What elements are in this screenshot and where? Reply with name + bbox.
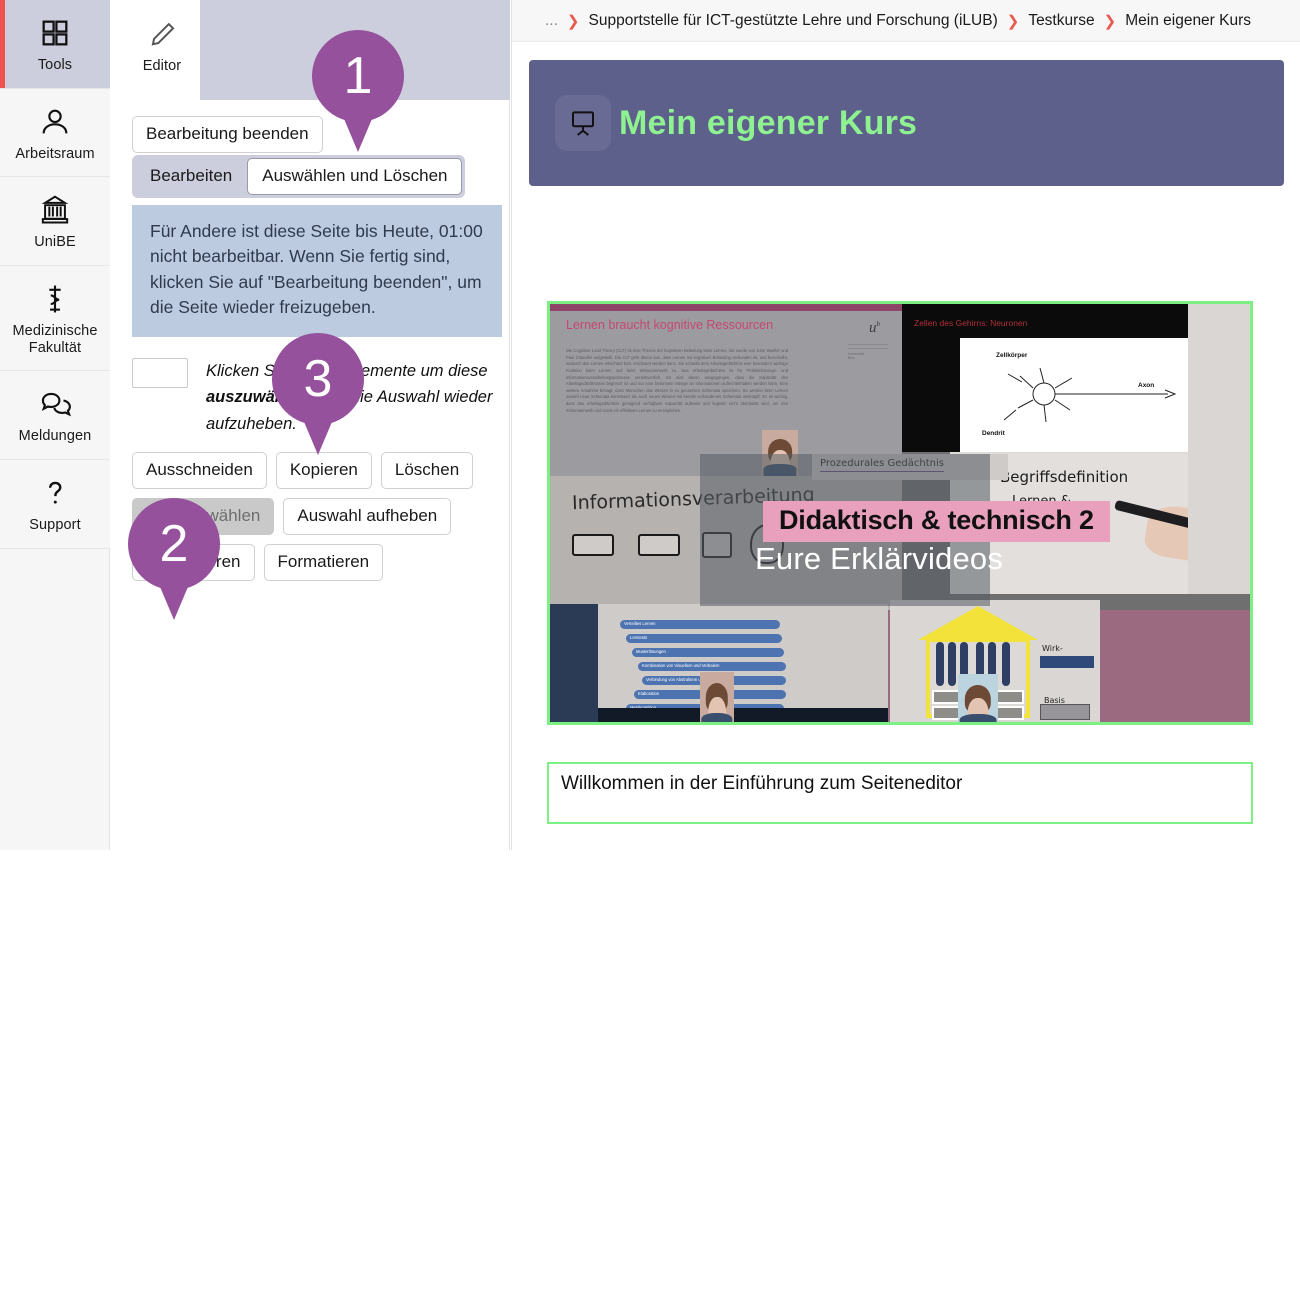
media-element-selected[interactable]: Lernen braucht kognitive Ressourcen Die … [547, 301, 1253, 725]
grid-icon [38, 16, 72, 50]
chevron-right-icon: ❯ [1007, 12, 1020, 30]
sidebar-item-label: Arbeitsraum [15, 146, 94, 163]
tab-bearbeiten[interactable]: Bearbeiten [135, 158, 247, 195]
editing-lock-notice: Für Andere ist diese Seite bis Heute, 01… [132, 205, 502, 337]
text-element-selected[interactable]: Willkommen in der Einführung zum Seitene… [547, 762, 1253, 824]
collage-tile-slide: Lernen braucht kognitive Ressourcen Die … [550, 304, 902, 476]
board-text: Begriffsdefinition [1000, 468, 1128, 486]
neuron-caption: Zellen des Gehirns: Neuronen [914, 318, 1027, 328]
format-button[interactable]: Formatieren [264, 544, 384, 581]
unibe-logo: ub [869, 320, 880, 337]
breadcrumb-item-ilub[interactable]: Supportstelle für ICT-gestützte Lehre un… [589, 12, 998, 30]
editor-panel: Editor Bearbeitung beenden ••• Bearbeite… [110, 0, 510, 850]
bar-label: Lerntests [630, 635, 647, 640]
sidebar-item-label: Tools [38, 57, 72, 74]
editor-mode-tabs: Bearbeiten Auswählen und Löschen [132, 155, 465, 198]
person-icon [38, 105, 72, 139]
video-title-primary: Didaktisch & technisch 2 [763, 501, 1110, 542]
bar-label: Musterlösungen [636, 649, 666, 654]
deselect-button[interactable]: Auswahl aufheben [283, 498, 451, 535]
question-mark-icon [38, 476, 72, 510]
instruction-text: Klicken Sie auf die Elemente um diese au… [206, 358, 504, 437]
breadcrumb-item-testkurse[interactable]: Testkurse [1028, 12, 1094, 30]
presentation-screen-icon [555, 95, 611, 151]
instruction-part1: Klicken Sie auf die Elemente um diese [206, 362, 488, 380]
slide-title: Lernen braucht kognitive Ressourcen [566, 318, 773, 332]
action-row-3: Deaktivieren Formatieren [132, 544, 504, 581]
end-editing-button[interactable]: Bearbeitung beenden [132, 116, 323, 153]
chevron-right-icon: ❯ [1104, 12, 1117, 30]
asclepius-icon [38, 282, 72, 316]
sidebar-item-label: Medizinische Fakultät [4, 323, 106, 356]
webcam-thumbnail [958, 674, 998, 725]
tab-editor[interactable]: Editor [124, 18, 200, 75]
sidebar-item-arbeitsraum[interactable]: Arbeitsraum [0, 89, 110, 178]
sidebar-item-label: Meldungen [19, 428, 92, 445]
slide-body-text: Die Cognitive Load Theory (CLT) ist eine… [566, 348, 788, 414]
logo-lines: UniversitätBern [848, 344, 888, 360]
sidebar-item-unibe[interactable]: UniBE [0, 177, 110, 266]
collage-tile-board-right [1188, 304, 1253, 594]
chevron-right-icon: ❯ [567, 12, 580, 30]
sidebar-item-meldungen[interactable]: Meldungen [0, 371, 110, 460]
delete-button[interactable]: Löschen [381, 452, 473, 489]
breadcrumb-ellipsis[interactable]: ... [545, 12, 558, 30]
element-action-buttons: Ausschneiden Kopieren Löschen Alle auswä… [132, 452, 504, 590]
house-note-1: Wirk- [1042, 644, 1063, 653]
copy-button[interactable]: Kopieren [276, 452, 372, 489]
sidebar-item-label: UniBE [34, 234, 76, 251]
sidebar-item-label: Support [29, 517, 81, 534]
instruction-bold: auszuwählen [206, 388, 309, 406]
page-title: Mein eigener Kurs [619, 104, 917, 143]
action-row-1: Ausschneiden Kopieren Löschen [132, 452, 504, 489]
chat-bubbles-icon [38, 387, 72, 421]
bar-label: Kombination von Visuellem und Verbalem [642, 663, 719, 668]
collage-tile-bars-slide: Verteiltes Lernen Lerntests Musterlösung… [598, 604, 888, 725]
building-icon [38, 193, 72, 227]
tab-auswaehlen-und-loeschen[interactable]: Auswählen und Löschen [247, 158, 462, 195]
sidebar-item-tools[interactable]: Tools [0, 0, 110, 89]
select-all-button[interactable]: Alle auswählen [132, 498, 274, 535]
neuron-diagram: Zellkörper Axon Dendrit [960, 338, 1188, 452]
course-banner: Mein eigener Kurs [529, 60, 1284, 186]
cut-button[interactable]: Ausschneiden [132, 452, 267, 489]
video-title-primary-text: Didaktisch & technisch 2 [779, 505, 1094, 535]
select-all-checkbox[interactable] [132, 358, 188, 388]
breadcrumb: ... ❯ Supportstelle für ICT-gestützte Le… [512, 0, 1300, 42]
left-icon-rail: Tools Arbeitsraum UniBE [0, 0, 110, 850]
instruction-row: Klicken Sie auf die Elemente um diese au… [132, 358, 504, 437]
slide-top-bar [550, 304, 902, 311]
bar-label: Verteiltes Lernen [624, 621, 655, 626]
bar-label: Elaboration [638, 691, 659, 696]
page-root: Tools Arbeitsraum UniBE [0, 0, 1300, 1300]
sidebar-item-support[interactable]: Support [0, 460, 110, 549]
breadcrumb-item-current[interactable]: Mein eigener Kurs [1125, 12, 1251, 30]
deactivate-button[interactable]: Deaktivieren [132, 544, 255, 581]
unibe-logo-letter: u [869, 320, 877, 336]
collage-tile-navy-left [550, 604, 600, 725]
collage-tile-neuron: Zellen des Gehirns: Neuronen Zellkörper … [902, 304, 1188, 452]
collage-tile-navy-bottom [598, 708, 888, 725]
video-title-secondary: Eure Erklärvideos [755, 541, 1003, 577]
action-row-2: Alle auswählen Auswahl aufheben [132, 498, 504, 535]
sidebar-item-medizinische-fakultaet[interactable]: Medizinische Fakultät [0, 266, 110, 371]
pencil-icon [145, 18, 179, 52]
tab-editor-label: Editor [143, 58, 181, 75]
webcam-thumbnail [700, 672, 734, 725]
editor-header-fill [200, 0, 510, 100]
editor-panel-header: Editor [110, 0, 510, 100]
